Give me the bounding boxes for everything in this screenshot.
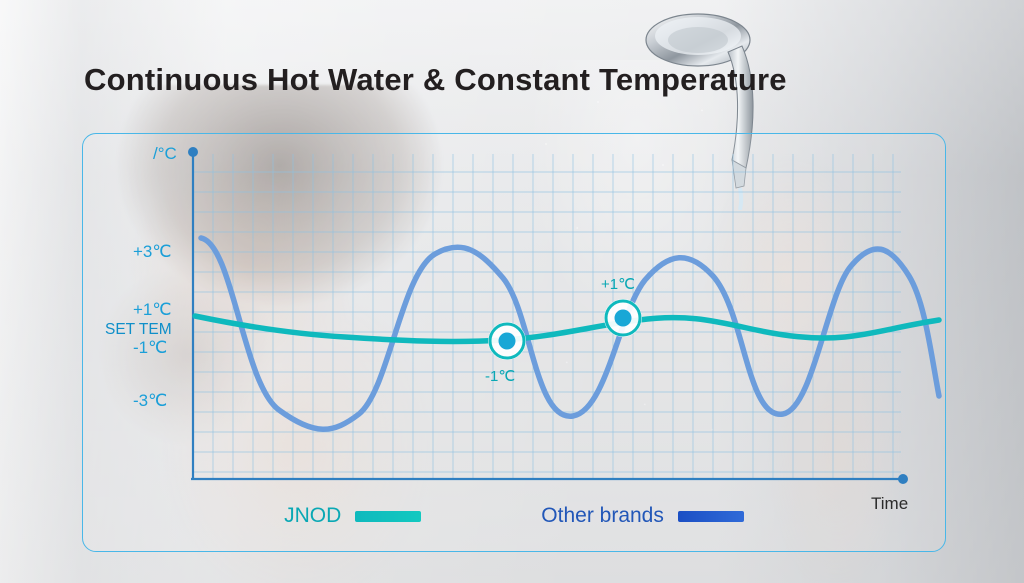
legend-label-other-brands: Other brands: [541, 504, 664, 528]
y-axis-end-dot: [188, 147, 198, 157]
chart-axes: [188, 147, 908, 484]
callout-label-plus1: +1℃: [601, 276, 635, 293]
chart-area: /°C +3℃ +1℃ SET TEM -1℃ -3℃ -1℃ +: [83, 134, 945, 551]
legend-swatch-jnod: [355, 511, 421, 522]
legend-item-other-brands[interactable]: Other brands: [541, 504, 744, 528]
y-tick-minus3: -3℃: [133, 391, 167, 410]
y-tick-minus1: -1℃: [133, 338, 167, 357]
chart-panel: /°C +3℃ +1℃ SET TEM -1℃ -3℃ -1℃ +: [82, 133, 946, 552]
callout-marker-plus1: +1℃: [601, 276, 642, 337]
set-temperature-label: SET TEM: [105, 321, 172, 338]
y-axis-unit-label: /°C: [153, 144, 177, 163]
chart-legend: JNOD Other brands: [83, 491, 945, 541]
legend-swatch-other-brands: [678, 511, 744, 522]
x-axis-end-dot: [898, 474, 908, 484]
callout-marker-minus1: -1℃: [485, 322, 526, 385]
y-tick-plus3: +3℃: [133, 242, 171, 261]
y-tick-plus1: +1℃: [133, 300, 171, 319]
callout-label-minus1: -1℃: [485, 368, 515, 385]
legend-label-jnod: JNOD: [284, 504, 341, 528]
temperature-line-chart: /°C +3℃ +1℃ SET TEM -1℃ -3℃ -1℃ +: [83, 134, 945, 551]
page-title: Continuous Hot Water & Constant Temperat…: [84, 62, 787, 98]
legend-item-jnod[interactable]: JNOD: [284, 504, 421, 528]
chart-grid: [193, 154, 901, 479]
